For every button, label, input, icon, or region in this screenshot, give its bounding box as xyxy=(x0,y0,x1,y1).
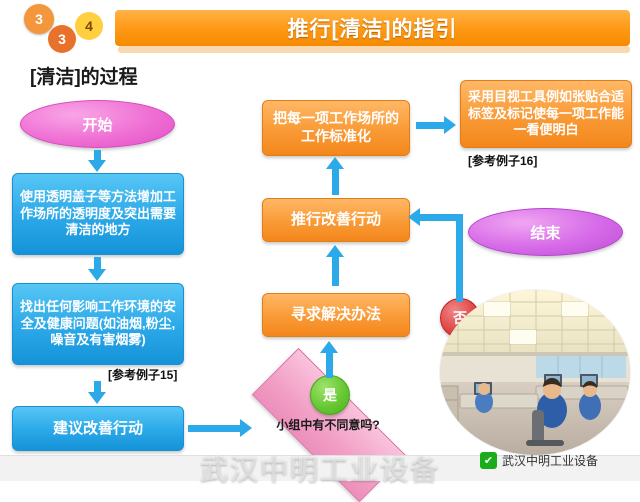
arrow-no-horizontal xyxy=(418,214,463,221)
arrow-no-step5-head xyxy=(408,208,420,226)
arrow-step4-step5-head xyxy=(326,245,344,257)
node-step4: 寻求解决办法 xyxy=(262,293,410,337)
node-step2: 找出任何影响工作环境的安全及健康问题(如油烟,粉尘,噪音及有害烟雾) xyxy=(12,283,184,365)
arrow-step1-step2-head xyxy=(88,269,106,281)
node-end: 结束 xyxy=(468,208,623,256)
arrow-step5-step6-head xyxy=(326,157,344,169)
node-step7: 采用目视工具例如张贴合适标签及标记使每一项工作能一看便明白 xyxy=(460,80,632,148)
node-step3: 建议改善行动 xyxy=(12,406,184,451)
watermark: ✔ 武汉中明工业设备 xyxy=(480,452,598,469)
arrow-step6-step7-head xyxy=(444,116,456,134)
office-photo xyxy=(440,290,630,455)
arrow-step3-decision-head xyxy=(240,419,252,437)
watermark-label: 武汉中明工业设备 xyxy=(502,452,598,469)
page-title: 推行[清洁]的指引 xyxy=(115,10,630,46)
arrow-step4-step5 xyxy=(332,256,339,286)
arrow-step5-step6 xyxy=(332,168,339,195)
node-step5: 推行改善行动 xyxy=(262,198,410,242)
badge-number-3: 3 xyxy=(48,25,76,53)
badge-number-2: 4 xyxy=(75,12,103,40)
tag-yes: 是 xyxy=(310,375,350,415)
node-step1: 使用透明盖子等方法增加工作场所的透明度及突出需要清洁的地方 xyxy=(12,173,184,255)
arrow-yes-step4 xyxy=(326,352,333,378)
note-ref16: [参考例子16] xyxy=(468,152,537,169)
arrow-no-vertical xyxy=(456,220,463,302)
slide-canvas: 推行[清洁]的指引 3 4 3 [清洁]的过程 开始 使用透明盖子等方法增加工作… xyxy=(0,0,640,480)
node-start: 开始 xyxy=(20,100,175,148)
arrow-step3-decision xyxy=(188,425,242,432)
wechat-logo-icon: ✔ xyxy=(480,452,497,469)
badge-number-1: 3 xyxy=(24,4,54,34)
arrow-start-step1-head xyxy=(88,160,106,172)
office-illustration xyxy=(440,290,630,455)
header-bar-shadow xyxy=(118,46,630,53)
section-subtitle: [清洁]的过程 xyxy=(30,62,138,89)
arrow-yes-step4-head xyxy=(320,341,338,353)
note-ref15: [参考例子15] xyxy=(108,366,177,383)
arrow-step2-step3-head xyxy=(88,392,106,404)
node-step6: 把每一项工作场所的工作标准化 xyxy=(262,100,410,156)
arrow-step6-step7 xyxy=(416,122,446,129)
